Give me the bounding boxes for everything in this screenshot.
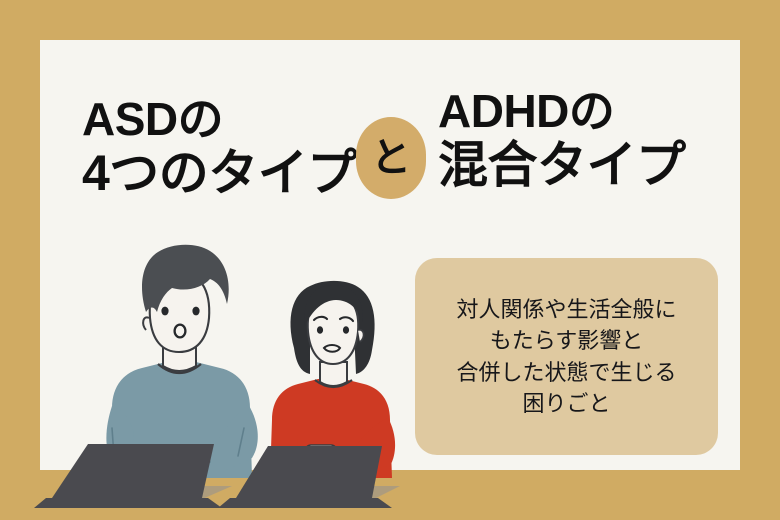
poster-root: ASDの 4つのタイプ ADHDの 混合タイプ と 対人関係や生活全般に もたら…: [0, 0, 780, 520]
caption-line-4: 困りごと: [522, 388, 610, 419]
caption-line-3: 合併した状態で生じる: [456, 357, 676, 388]
caption-box: 対人関係や生活全般に もたらす影響と 合併した状態で生じる 困りごと: [415, 258, 718, 455]
connector-badge-label: と: [371, 138, 411, 178]
caption-line-2: もたらす影響と: [490, 325, 644, 356]
caption-line-1: 対人関係や生活全般に: [456, 294, 676, 325]
connector-badge: と: [356, 117, 426, 199]
desk-surface: [0, 470, 780, 520]
